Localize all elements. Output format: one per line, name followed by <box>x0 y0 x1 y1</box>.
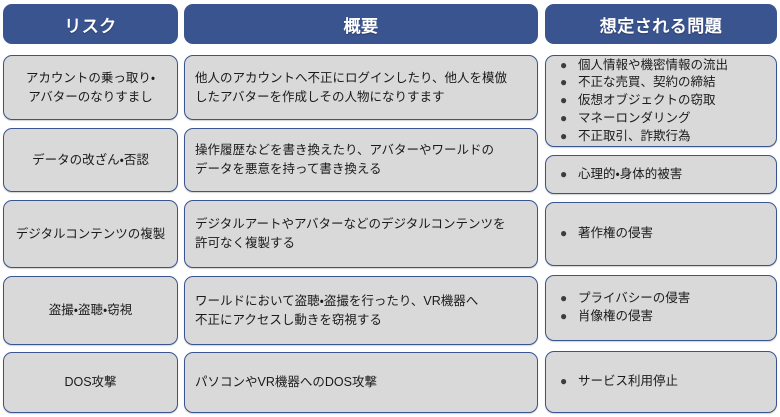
risk-cell-1: アカウントの乗っ取り・ アバターのなりすまし <box>3 55 178 120</box>
bullet-icon: ● <box>560 225 578 242</box>
summary-cell-2-line2: データを悪意を持って書き換える <box>195 160 494 179</box>
list-item: ●著作権の侵害 <box>560 225 653 243</box>
risk-cell-1-line2: アバターのなりすまし <box>26 88 155 107</box>
summary-cell-4-line2: 不正にアクセスし動きを窃視する <box>195 311 478 330</box>
bullet-icon: ● <box>560 166 578 183</box>
column-header-issues: 想定される問題 <box>545 4 777 44</box>
issues-cell-4: ●プライバシーの侵害 ●肖像権の侵害 <box>545 275 777 341</box>
list-item: ●個人情報や機密情報の流出 <box>560 57 728 75</box>
summary-cell-5-text: パソコンやVR機器へのDOS攻撃 <box>195 373 377 392</box>
risk-matrix-table: リスク 概要 想定される問題 アカウントの乗っ取り・ アバターのなりすまし 他人… <box>0 0 780 417</box>
summary-cell-3: デジタルアートやアバターなどのデジタルコンテンツを 許可なく複製する <box>184 200 538 268</box>
summary-cell-4: ワールドにおいて盗聴・盗撮を行ったり、VR機器へ 不正にアクセスし動きを窃視する <box>184 276 538 345</box>
summary-cell-5: パソコンやVR機器へのDOS攻撃 <box>184 352 538 413</box>
summary-cell-1-line2: したアバターを作成しその人物になりすます <box>195 88 507 107</box>
bullet-icon: ● <box>560 373 578 390</box>
bullet-icon: ● <box>560 128 578 145</box>
summary-cell-1-text: 他人のアカウントへ不正にログインしたり、他人を模倣 したアバターを作成しその人物… <box>195 69 507 107</box>
issue-label: プライバシーの侵害 <box>578 290 690 308</box>
risk-cell-5: DOS攻撃 <box>3 352 178 413</box>
issues-list-1: ●個人情報や機密情報の流出 ●不正な売買、契約の締結 ●仮想オブジェクトの窃取 … <box>560 57 728 146</box>
bullet-icon: ● <box>560 290 578 307</box>
issues-list-2: ●心理的・身体的被害 <box>560 166 682 184</box>
issues-cell-3: ●著作権の侵害 <box>545 202 777 266</box>
list-item: ●心理的・身体的被害 <box>560 166 682 184</box>
summary-cell-4-line1: ワールドにおいて盗聴・盗撮を行ったり、VR機器へ <box>195 292 478 311</box>
list-item: ●肖像権の侵害 <box>560 308 690 326</box>
issues-list-4: ●プライバシーの侵害 ●肖像権の侵害 <box>560 290 690 326</box>
risk-cell-1-line1: アカウントの乗っ取り・ <box>26 69 155 88</box>
risk-cell-3: デジタルコンテンツの複製 <box>3 200 178 268</box>
column-header-summary-label: 概要 <box>344 12 379 37</box>
risk-cell-5-text: DOS攻撃 <box>64 373 116 392</box>
summary-cell-3-line2: 許可なく複製する <box>195 234 506 253</box>
issues-cell-5: ●サービス利用停止 <box>545 351 777 413</box>
risk-cell-2-text: データの改ざん・否認 <box>32 151 149 170</box>
issue-label: マネーロンダリング <box>578 110 691 128</box>
issue-label: 不正取引、詐欺行為 <box>578 128 691 146</box>
list-item: ●不正な売買、契約の締結 <box>560 74 728 92</box>
bullet-icon: ● <box>560 92 578 109</box>
list-item: ●サービス利用停止 <box>560 373 678 391</box>
issue-label: 著作権の侵害 <box>578 225 653 243</box>
bullet-icon: ● <box>560 308 578 325</box>
column-header-summary: 概要 <box>184 4 538 44</box>
bullet-icon: ● <box>560 110 578 127</box>
summary-cell-1-line1: 他人のアカウントへ不正にログインしたり、他人を模倣 <box>195 69 507 88</box>
issues-list-5: ●サービス利用停止 <box>560 373 678 391</box>
issue-label: 肖像権の侵害 <box>578 308 653 326</box>
list-item: ●仮想オブジェクトの窃取 <box>560 92 728 110</box>
list-item: ●不正取引、詐欺行為 <box>560 128 728 146</box>
issue-label: 心理的・身体的被害 <box>578 166 682 184</box>
risk-cell-1-text: アカウントの乗っ取り・ アバターのなりすまし <box>26 69 155 107</box>
issues-list-3: ●著作権の侵害 <box>560 225 653 243</box>
column-header-issues-label: 想定される問題 <box>600 12 723 37</box>
summary-cell-1: 他人のアカウントへ不正にログインしたり、他人を模倣 したアバターを作成しその人物… <box>184 55 538 120</box>
issue-label: 不正な売買、契約の締結 <box>578 74 716 92</box>
issue-label: 個人情報や機密情報の流出 <box>578 57 728 75</box>
list-item: ●マネーロンダリング <box>560 110 728 128</box>
risk-cell-4: 盗撮・盗聴・窃視 <box>3 276 178 345</box>
summary-cell-3-line1: デジタルアートやアバターなどのデジタルコンテンツを <box>195 215 506 234</box>
issues-cell-2: ●心理的・身体的被害 <box>545 155 777 194</box>
bullet-icon: ● <box>560 74 578 91</box>
issues-cell-1: ●個人情報や機密情報の流出 ●不正な売買、契約の締結 ●仮想オブジェクトの窃取 … <box>545 55 777 147</box>
summary-cell-2: 操作履歴などを書き換えたり、アバターやワールドの データを悪意を持って書き換える <box>184 128 538 192</box>
list-item: ●プライバシーの侵害 <box>560 290 690 308</box>
summary-cell-3-text: デジタルアートやアバターなどのデジタルコンテンツを 許可なく複製する <box>195 215 506 253</box>
issue-label: 仮想オブジェクトの窃取 <box>578 92 716 110</box>
column-header-risk: リスク <box>3 4 178 44</box>
summary-cell-4-text: ワールドにおいて盗聴・盗撮を行ったり、VR機器へ 不正にアクセスし動きを窃視する <box>195 292 478 330</box>
risk-cell-3-text: デジタルコンテンツの複製 <box>16 225 166 244</box>
bullet-icon: ● <box>560 57 578 74</box>
summary-cell-2-text: 操作履歴などを書き換えたり、アバターやワールドの データを悪意を持って書き換える <box>195 141 494 179</box>
summary-cell-2-line1: 操作履歴などを書き換えたり、アバターやワールドの <box>195 141 494 160</box>
issue-label: サービス利用停止 <box>578 373 678 391</box>
risk-cell-2: データの改ざん・否認 <box>3 128 178 192</box>
risk-cell-4-text: 盗撮・盗聴・窃視 <box>49 301 133 320</box>
column-header-risk-label: リスク <box>64 12 117 37</box>
